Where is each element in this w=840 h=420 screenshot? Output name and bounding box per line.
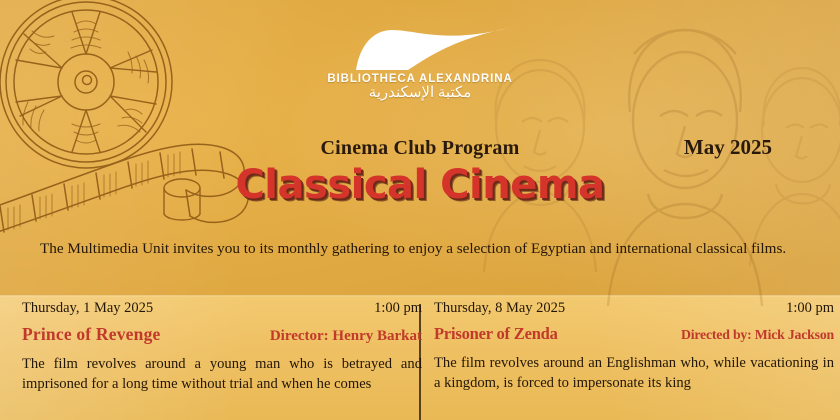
film-card[interactable]: Thursday, 1 May 2025 1:00 pm Prince of R… [22, 300, 422, 394]
cinema-club-poster: BIBLIOTHECA ALEXANDRINA مكتبة الإسكندرية… [0, 0, 840, 420]
film-card-meta-row: Thursday, 1 May 2025 1:00 pm [22, 300, 422, 317]
film-card[interactable]: Thursday, 8 May 2025 1:00 pm Prisoner of… [434, 300, 834, 393]
film-description: The film revolves around a young man who… [22, 354, 422, 394]
film-title[interactable]: Prisoner of Zenda [434, 324, 558, 344]
page-title: Classical Cinema [0, 162, 840, 208]
film-director: Director: Henry Barkat [270, 328, 422, 345]
intro-paragraph: The Multimedia Unit invites you to its m… [40, 238, 810, 260]
film-time: 1:00 pm [786, 300, 834, 317]
film-date: Thursday, 8 May 2025 [434, 300, 565, 317]
film-listing: Thursday, 1 May 2025 1:00 pm Prince of R… [0, 300, 840, 420]
bibliotheca-alexandrina-logo: BIBLIOTHECA ALEXANDRINA مكتبة الإسكندرية [309, 26, 531, 102]
logo-latin-name: BIBLIOTHECA ALEXANDRINA [309, 73, 531, 85]
logo-arabic-name: مكتبة الإسكندرية [309, 85, 531, 102]
film-director: Directed by: Mick Jackson [681, 327, 834, 343]
program-month: May 2025 [684, 135, 772, 160]
film-time: 1:00 pm [374, 300, 422, 317]
film-description: The film revolves around an Englishman w… [434, 353, 834, 393]
bibliotheca-swoosh-icon [330, 26, 510, 72]
film-title[interactable]: Prince of Revenge [22, 324, 161, 345]
film-card-title-row: Prisoner of Zenda Directed by: Mick Jack… [434, 324, 834, 344]
film-card-meta-row: Thursday, 8 May 2025 1:00 pm [434, 300, 834, 317]
background-band-seam [0, 295, 840, 297]
film-card-title-row: Prince of Revenge Director: Henry Barkat [22, 324, 422, 345]
film-date: Thursday, 1 May 2025 [22, 300, 153, 317]
